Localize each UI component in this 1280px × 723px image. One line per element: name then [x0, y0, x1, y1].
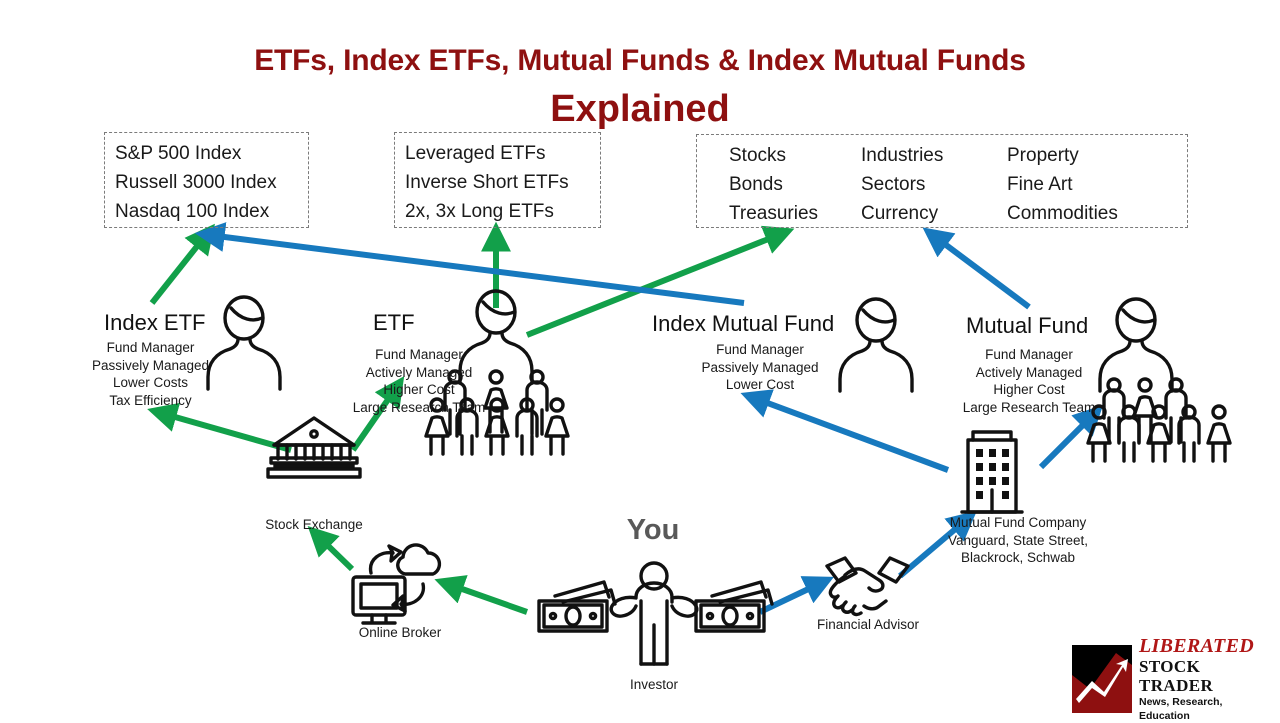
attribute-line: Lower Cost — [676, 376, 844, 394]
caption-mutual-fund-company: Mutual Fund Company Vanguard, State Stre… — [900, 514, 1136, 567]
attribute-line: Higher Cost — [333, 381, 505, 399]
logo-tagline: News, Research, Education — [1139, 695, 1272, 723]
logo-text: LIBERATED STOCK TRADER News, Research, E… — [1132, 645, 1272, 713]
attribute-line: Passively Managed — [82, 357, 219, 375]
asset-line: Inverse Short ETFs — [405, 168, 569, 197]
asset-line: Industries — [861, 141, 1007, 170]
attribute-line: Passively Managed — [676, 359, 844, 377]
office-building-icon — [962, 432, 1022, 512]
asset-line: Fine Art — [1007, 170, 1139, 199]
attribute-line: Actively Managed — [938, 364, 1120, 382]
money-icon-right — [696, 582, 772, 631]
attributes-etf: Fund Manager Actively Managed Higher Cos… — [333, 346, 505, 416]
attribute-line: Fund Manager — [333, 346, 505, 364]
logo-chart-arrow-icon — [1072, 645, 1132, 713]
asset-line: Bonds — [729, 170, 861, 199]
asset-line: Nasdaq 100 Index — [115, 197, 277, 226]
attribute-line: Large Research Team — [333, 399, 505, 417]
diagram-canvas: ETFs, Index ETFs, Mutual Funds & Index M… — [0, 0, 1280, 720]
label-you: You — [560, 514, 746, 547]
label-index-etf: Index ETF — [104, 310, 205, 336]
attributes-index-mutual-fund: Fund Manager Passively Managed Lower Cos… — [676, 341, 844, 394]
asset-line: S&P 500 Index — [115, 139, 277, 168]
stock-exchange-icon — [268, 418, 360, 477]
brand-logo: LIBERATED STOCK TRADER News, Research, E… — [1072, 645, 1272, 713]
asset-line: Property — [1007, 141, 1139, 170]
box-leveraged-etfs: Leveraged ETFs Inverse Short ETFs 2x, 3x… — [394, 132, 601, 228]
label-etf: ETF — [373, 310, 415, 336]
attribute-line: Large Research Team — [938, 399, 1120, 417]
attribute-line: Higher Cost — [938, 381, 1120, 399]
attributes-index-etf: Fund Manager Passively Managed Lower Cos… — [82, 339, 219, 409]
label-mutual-fund: Mutual Fund — [966, 313, 1088, 339]
asset-line: Commodities — [1007, 199, 1139, 228]
asset-line: Leveraged ETFs — [405, 139, 569, 168]
attribute-line: Fund Manager — [82, 339, 219, 357]
investor-icon — [611, 563, 697, 664]
logo-line-stock-trader: STOCK TRADER — [1139, 657, 1272, 695]
money-icon-left — [539, 582, 615, 631]
caption-financial-advisor: Financial Advisor — [790, 616, 946, 633]
attribute-line: Fund Manager — [938, 346, 1120, 364]
asset-line: Sectors — [861, 170, 1007, 199]
attribute-line: Lower Costs — [82, 374, 219, 392]
attribute-line: Fund Manager — [676, 341, 844, 359]
caption-stock-exchange: Stock Exchange — [240, 516, 388, 533]
box-index-benchmarks: S&P 500 Index Russell 3000 Index Nasdaq … — [104, 132, 309, 228]
asset-line: Treasuries — [729, 199, 861, 228]
fund-manager-icon-index-mutual-fund — [840, 299, 912, 391]
online-broker-icon — [353, 545, 439, 623]
asset-line: Stocks — [729, 141, 861, 170]
asset-line: Russell 3000 Index — [115, 168, 277, 197]
asset-line: Currency — [861, 199, 1007, 228]
attributes-mutual-fund: Fund Manager Actively Managed Higher Cos… — [938, 346, 1120, 416]
label-index-mutual-fund: Index Mutual Fund — [652, 311, 834, 337]
box-asset-classes: Stocks Bonds Treasuries Industries Secto… — [696, 134, 1188, 228]
caption-online-broker: Online Broker — [330, 624, 470, 641]
attribute-line: Tax Efficiency — [82, 392, 219, 410]
asset-line: 2x, 3x Long ETFs — [405, 197, 569, 226]
caption-investor: Investor — [595, 676, 713, 693]
attribute-line: Actively Managed — [333, 364, 505, 382]
logo-line-liberated: LIBERATED — [1139, 636, 1272, 657]
handshake-icon — [827, 558, 908, 615]
